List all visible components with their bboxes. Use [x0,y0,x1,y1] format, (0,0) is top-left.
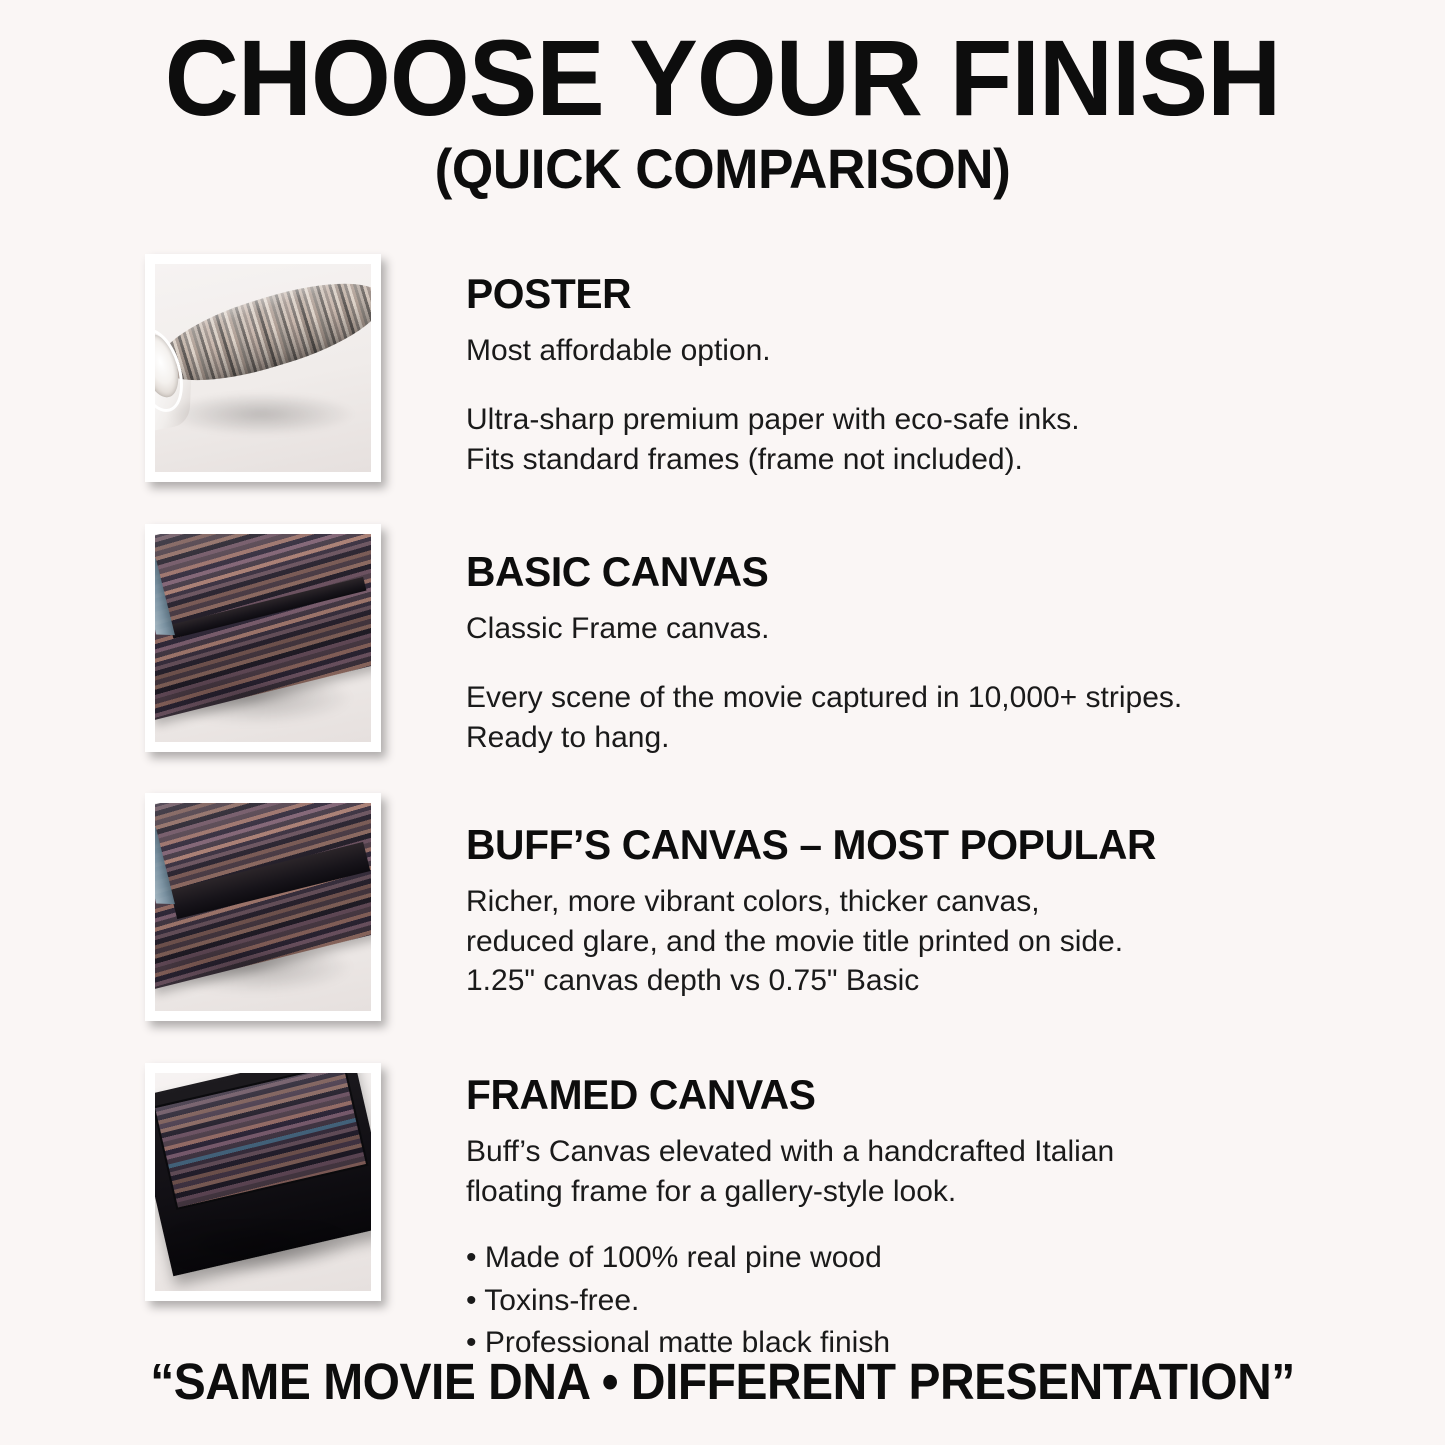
basic-canvas-body-line-2: Ready to hang. [466,718,1405,758]
poster-heading: POSTER [466,270,1377,317]
canvas-drop-shadow [172,680,353,726]
framed-canvas-thumbnail [145,1063,381,1301]
framed-canvas-heading: FRAMED CANVAS [466,1071,1377,1118]
poster-lead: Most affordable option. [466,331,1405,370]
poster-thumbnail [145,254,381,482]
buffs-canvas-photo [155,803,371,1011]
poster-body-line-2: Fits standard frames (frame not included… [466,440,1405,480]
framed-canvas-body-line-1: Buff’s Canvas elevated with a handcrafte… [466,1132,1405,1172]
canvas-drop-shadow [172,949,353,995]
buffs-canvas-text-block: BUFF’S CANVAS – MOST POPULAR Richer, mor… [381,793,1445,1001]
basic-canvas-slab [155,534,371,696]
list-item: • Made of 100% real pine wood [466,1237,1405,1280]
framed-canvas-text-block: FRAMED CANVAS Buff’s Canvas elevated wit… [381,1063,1445,1365]
finish-row-poster: POSTER Most affordable option. Ultra-sha… [0,254,1445,482]
basic-canvas-lead: Classic Frame canvas. [466,609,1405,648]
list-item: • Toxins-free. [466,1280,1405,1323]
framed-canvas-body: Buff’s Canvas elevated with a handcrafte… [466,1132,1405,1211]
framed-canvas-bullet-list: • Made of 100% real pine wood • Toxins-f… [466,1237,1405,1365]
buffs-canvas-body-line-2: reduced glare, and the movie title print… [466,922,1405,962]
basic-canvas-body-line-1: Every scene of the movie captured in 10,… [466,678,1405,718]
framed-canvas-stripe-face [155,1073,366,1208]
buffs-canvas-body: Richer, more vibrant colors, thicker can… [466,882,1405,1001]
buffs-canvas-heading: BUFF’S CANVAS – MOST POPULAR [466,821,1377,868]
framed-canvas-body-line-2: floating frame for a gallery-style look. [466,1172,1405,1212]
finish-row-buffs-canvas: BUFF’S CANVAS – MOST POPULAR Richer, mor… [0,793,1445,1021]
basic-canvas-heading: BASIC CANVAS [466,548,1377,595]
poster-text-block: POSTER Most affordable option. Ultra-sha… [381,254,1445,479]
basic-canvas-text-block: BASIC CANVAS Classic Frame canvas. Every… [381,524,1445,757]
poster-body-line-1: Ultra-sharp premium paper with eco-safe … [466,400,1405,440]
footer-tagline: “SAME MOVIE DNA • DIFFERENT PRESENTATION… [43,1352,1401,1411]
buffs-canvas-slab [155,803,371,965]
basic-canvas-photo [155,534,371,742]
page-title: CHOOSE YOUR FINISH [36,22,1409,134]
infographic-page: CHOOSE YOUR FINISH (QUICK COMPARISON) PO… [0,0,1445,1445]
buffs-canvas-body-line-1: Richer, more vibrant colors, thicker can… [466,882,1405,922]
buffs-canvas-thumbnail [145,793,381,1021]
frame-drop-shadow [172,1226,353,1274]
basic-canvas-thumbnail [145,524,381,752]
header: CHOOSE YOUR FINISH (QUICK COMPARISON) [0,22,1445,199]
basic-canvas-body: Every scene of the movie captured in 10,… [466,678,1405,757]
poster-body: Ultra-sharp premium paper with eco-safe … [466,400,1405,479]
page-subtitle: (QUICK COMPARISON) [36,140,1409,199]
buffs-canvas-body-line-3: 1.25" canvas depth vs 0.75" Basic [466,961,1405,1001]
framed-canvas-photo [155,1073,371,1291]
poster-roll-shadow [168,393,354,435]
finish-row-framed-canvas: FRAMED CANVAS Buff’s Canvas elevated wit… [0,1063,1445,1365]
finish-row-basic-canvas: BASIC CANVAS Classic Frame canvas. Every… [0,524,1445,757]
poster-roll-photo [155,264,371,472]
